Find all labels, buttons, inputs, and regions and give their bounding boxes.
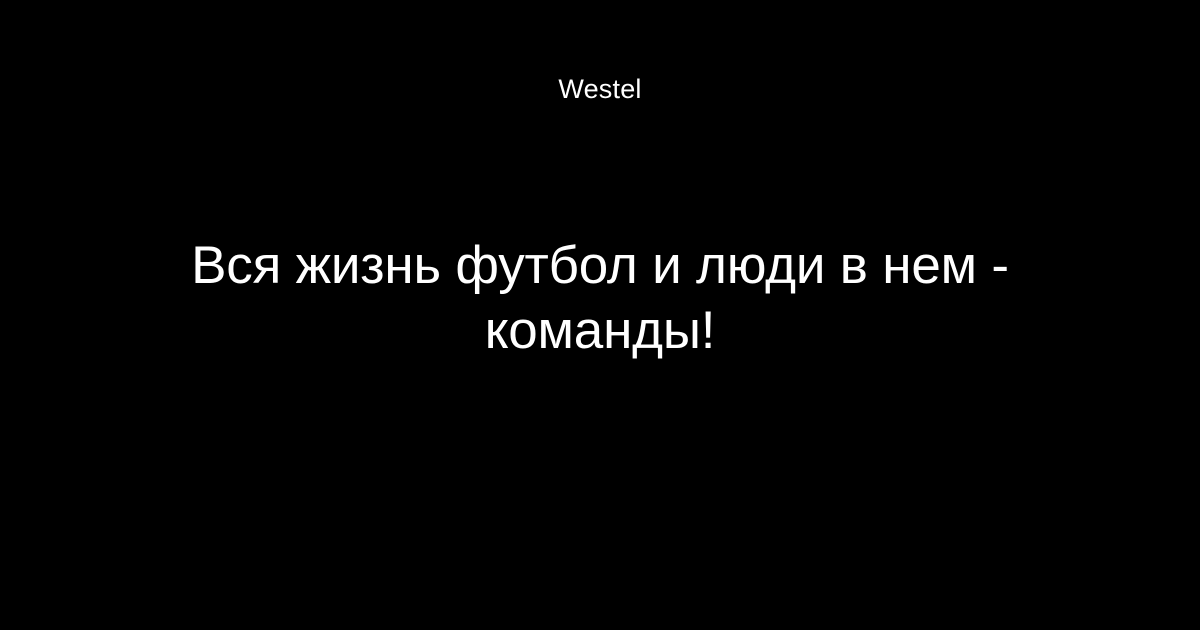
page-title: Вся жизнь футбол и люди в нем - команды!	[100, 233, 1100, 363]
site-name: Westel	[0, 72, 1200, 106]
share-card: Westel Вся жизнь футбол и люди в нем - к…	[0, 0, 1200, 630]
